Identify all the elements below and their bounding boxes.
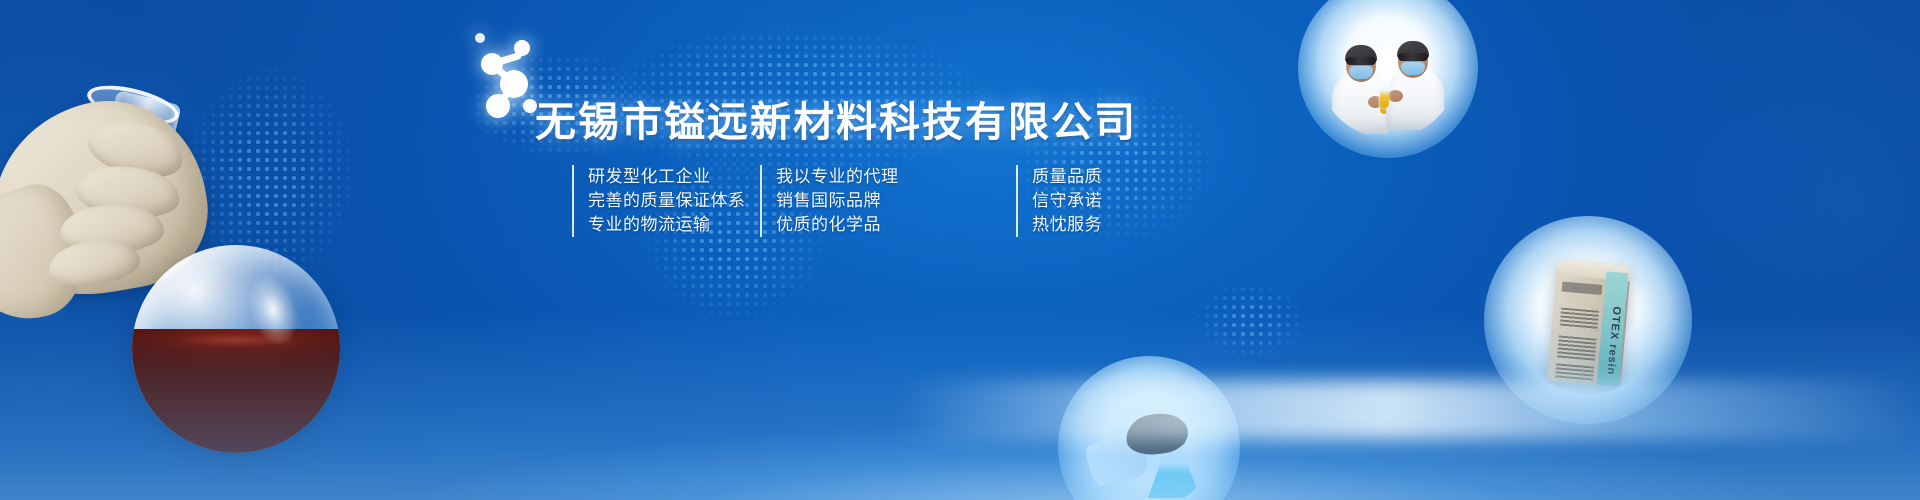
world-map-dots-oceania	[1150, 250, 1350, 390]
slogan-line: 我以专业的代理	[776, 165, 946, 189]
scientist-hand	[1388, 90, 1403, 102]
company-banner: 无锡市镒远新材料科技有限公司 研发型化工企业 完善的质量保证体系 专业的物流运输…	[0, 0, 1920, 500]
blue-liquid-flask	[1148, 448, 1200, 498]
slogan-column-1: 研发型化工企业 完善的质量保证体系 专业的物流运输	[572, 165, 738, 237]
resin-bag-text-block	[1557, 335, 1597, 360]
flask-liquid-surface	[134, 329, 338, 351]
bottom-glow-streak	[900, 380, 1920, 440]
photo-bubble-resin-bag: OTEX resin	[1514, 246, 1662, 394]
slogan-line: 质量品质	[1032, 165, 1152, 189]
flask-bulb	[132, 245, 340, 453]
right-vignette	[1460, 0, 1920, 500]
resin-bag-text-block	[1555, 363, 1594, 382]
flask-photo-left	[0, 95, 330, 500]
slogan-line: 热忱服务	[1032, 213, 1152, 237]
resin-product-bag: OTEX resin	[1547, 259, 1631, 387]
slogan-columns: 研发型化工企业 完善的质量保证体系 专业的物流运输 我以专业的代理 销售国际品牌…	[572, 165, 1152, 237]
resin-bag-brand-text: OTEX resin	[1597, 305, 1623, 376]
resin-bag-label	[1562, 282, 1603, 295]
photo-bubble-scientists	[1318, 0, 1458, 138]
slogan-line: 优质的化学品	[776, 213, 946, 237]
resin-bag-text-block	[1560, 308, 1600, 331]
slogan-line: 销售国际品牌	[776, 189, 946, 213]
slogan-column-3: 质量品质 信守承诺 热忱服务	[1016, 165, 1152, 237]
test-tube-icon	[1380, 78, 1389, 108]
slogan-column-2: 我以专业的代理 销售国际品牌 优质的化学品	[760, 165, 946, 237]
photo-bubble-blue-flask	[1086, 386, 1210, 500]
safety-goggles-icon	[1398, 53, 1428, 61]
slogan-line: 完善的质量保证体系	[588, 189, 738, 213]
flask-red-liquid	[132, 329, 340, 453]
company-title: 无锡市镒远新材料科技有限公司	[535, 88, 1137, 148]
face-mask-icon	[1401, 62, 1425, 75]
slogan-line: 研发型化工企业	[588, 165, 738, 189]
face-mask-icon	[1349, 66, 1373, 79]
slogan-line: 信守承诺	[1032, 189, 1152, 213]
slogan-line: 专业的物流运输	[588, 213, 738, 237]
safety-goggles-icon	[1346, 57, 1376, 65]
